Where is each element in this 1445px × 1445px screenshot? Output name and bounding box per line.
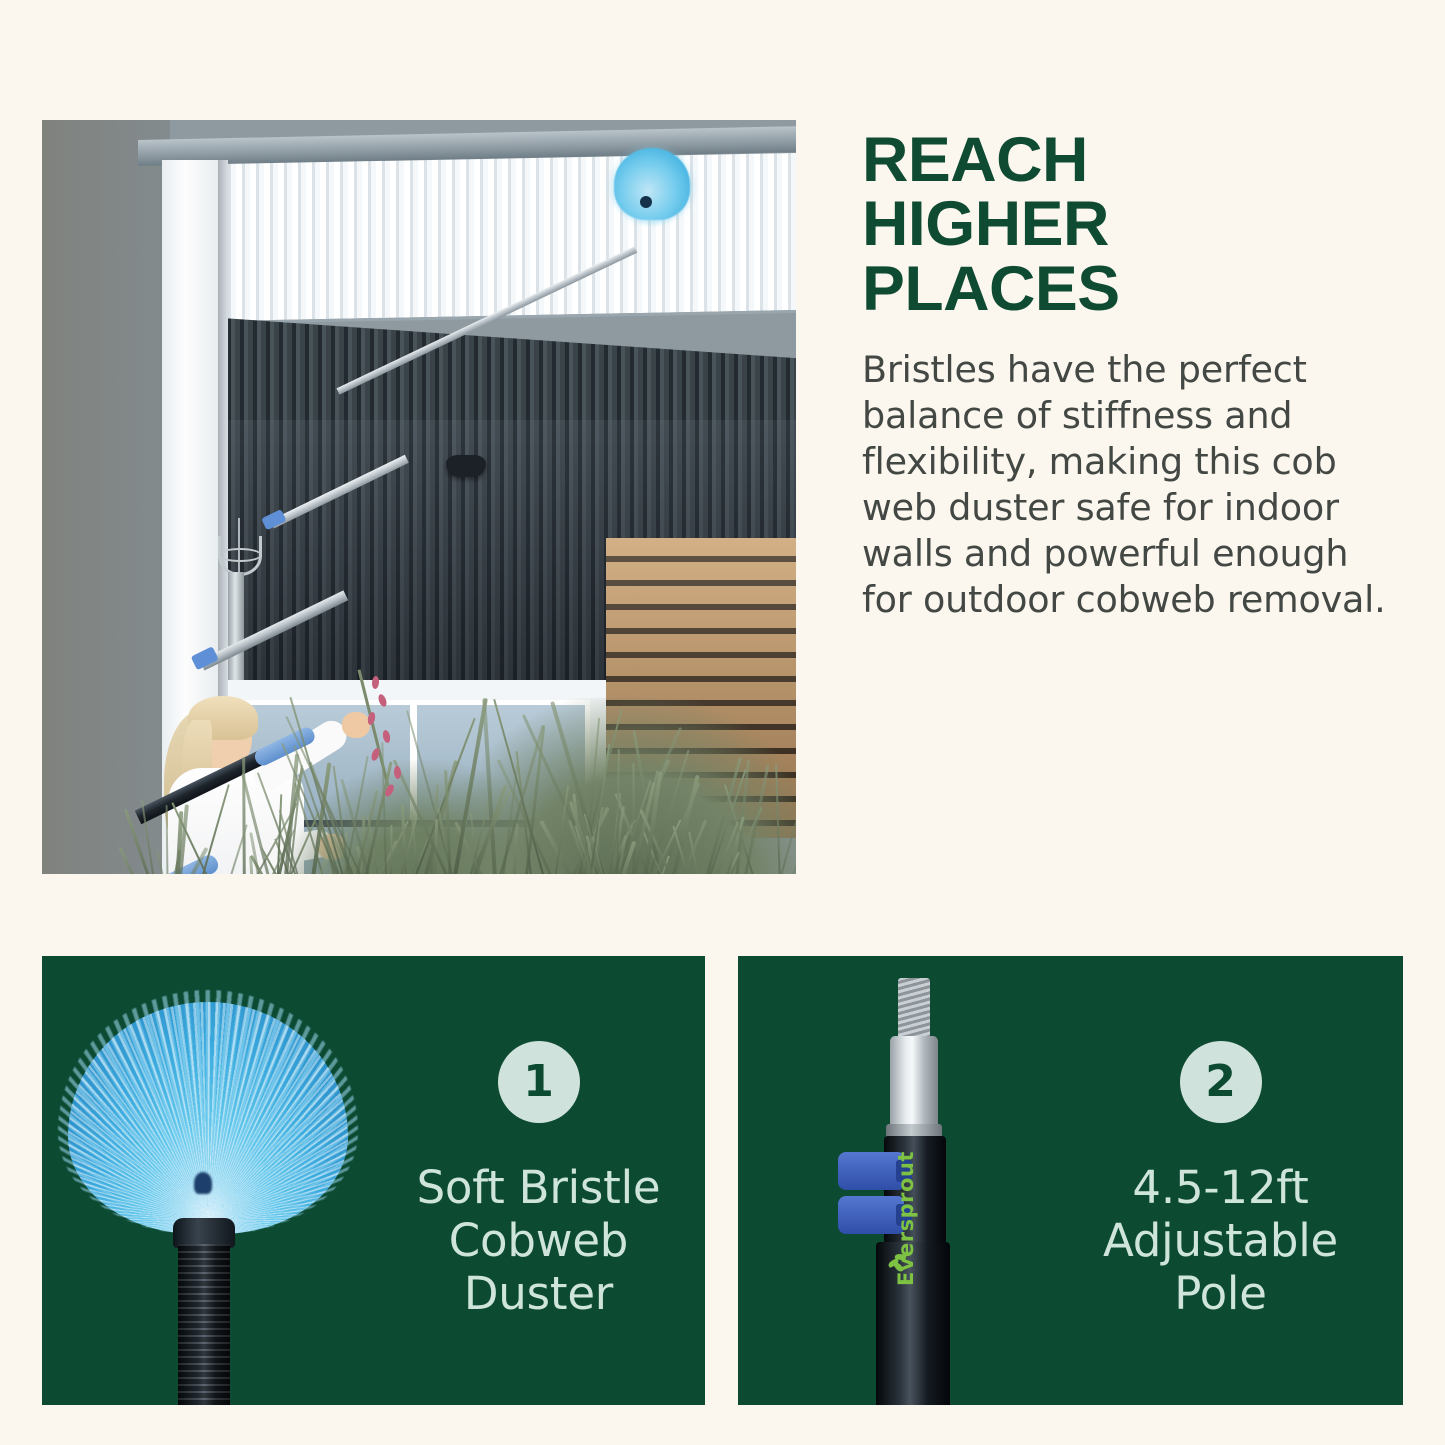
person-upper-hand xyxy=(342,712,370,738)
hero-text-column: REACH HIGHER PLACES Bristles have the pe… xyxy=(838,120,1403,874)
hanging-basket-ring xyxy=(218,548,262,562)
corrugated-fascia xyxy=(222,153,796,324)
duster-head-in-use xyxy=(614,148,690,220)
feature-panel-1: 1 Soft Bristle Cobweb Duster xyxy=(42,956,705,1405)
duster-center-hub xyxy=(194,1172,212,1194)
feature-2-text: 2 4.5-12ft Adjustable Pole xyxy=(1038,956,1403,1405)
duster-head-core xyxy=(640,196,652,208)
feature-panel-2: Eversprout 2 4.5-12ft Adjustable Pole xyxy=(738,956,1403,1405)
duster-head-product-image xyxy=(42,956,372,1405)
grass-blade xyxy=(390,825,393,874)
page-title: REACH HIGHER PLACES xyxy=(862,128,1414,321)
feature-number-badge-2: 2 xyxy=(1180,1041,1262,1123)
feature-1-text: 1 Soft Bristle Cobweb Duster xyxy=(372,956,705,1405)
hero-section: REACH HIGHER PLACES Bristles have the pe… xyxy=(42,120,1403,874)
feature-2-label-line-2: Adjustable xyxy=(1103,1214,1338,1267)
pole-threaded-tip xyxy=(898,978,930,1040)
feature-label-2: 4.5-12ft Adjustable Pole xyxy=(1103,1161,1338,1320)
hero-body-copy: Bristles have the perfect balance of sti… xyxy=(862,347,1403,623)
pole-metal-ferrule xyxy=(890,1036,938,1132)
telescoping-pole-product-image: Eversprout xyxy=(766,956,1066,1405)
ceiling-light xyxy=(446,455,486,477)
feature-1-label-line-2: Cobweb xyxy=(417,1214,661,1267)
wood-siding-left xyxy=(42,120,170,874)
headline-line-2: HIGHER xyxy=(862,192,1414,256)
headline-line-3: PLACES xyxy=(862,257,1414,321)
feature-label-1: Soft Bristle Cobweb Duster xyxy=(417,1161,661,1320)
feature-1-label-line-3: Duster xyxy=(417,1267,661,1320)
duster-bristles xyxy=(68,1002,348,1234)
pole-brand-text: Eversprout xyxy=(894,1151,918,1286)
feature-number-badge-1: 1 xyxy=(498,1041,580,1123)
hero-photo xyxy=(42,120,796,874)
duster-ribbed-handle xyxy=(178,1244,230,1405)
feature-2-label-line-1: 4.5-12ft xyxy=(1103,1161,1338,1214)
headline-line-1: REACH xyxy=(862,128,1414,192)
feature-1-label-line-1: Soft Bristle xyxy=(417,1161,661,1214)
feature-2-label-line-3: Pole xyxy=(1103,1267,1338,1320)
